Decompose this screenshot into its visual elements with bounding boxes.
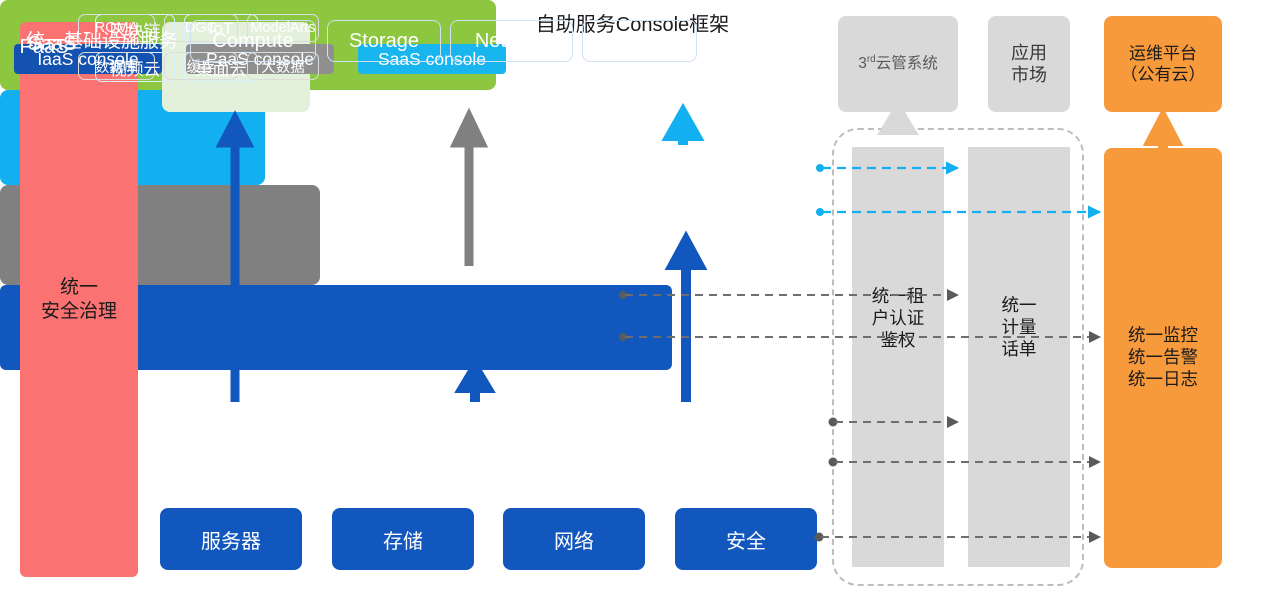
hardware-item-security[interactable]: 安全	[675, 508, 817, 570]
paas-service-database[interactable]: 数据库	[78, 52, 155, 80]
third-party-cloud-management-box: 3rd云管系统	[838, 16, 958, 112]
unified-tenant-auth-label: 统一租 户认证 鉴权	[852, 282, 944, 356]
unified-metering-label: 统一 计量 话单	[968, 282, 1070, 374]
unified-monitor-alarm-log-panel: 统一监控 统一告警 统一日志	[1104, 148, 1222, 568]
architecture-diagram: 统一 安全治理 API网关 自助服务Console框架 IaaS console…	[0, 0, 1265, 605]
ops-platform-label: 运维平台 （公有云）	[1121, 43, 1206, 86]
hardware-item-network[interactable]: 网络	[503, 508, 645, 570]
arrow-saas-to-saas-console	[670, 113, 696, 145]
infra-service-cce[interactable]: CCE	[582, 20, 697, 62]
app-market-box: 应用 市场	[988, 16, 1070, 112]
unified-security-governance-pillar: 统一 安全治理	[20, 22, 138, 577]
infra-service-compute[interactable]: Compute	[190, 20, 316, 62]
hardware-item-storage[interactable]: 存储	[332, 508, 474, 570]
app-market-label: 应用 市场	[1011, 42, 1047, 87]
unified-infrastructure-label: 统一基础设施服务	[14, 26, 190, 53]
ops-platform-public-cloud-box: 运维平台 （公有云）	[1104, 16, 1222, 112]
arrow-ops-panel-to-ops-platform	[1151, 118, 1175, 148]
hardware-item-server[interactable]: 服务器	[160, 508, 302, 570]
arrow-infra-to-paas	[463, 368, 487, 402]
infra-service-storage[interactable]: Storage	[327, 20, 441, 62]
arrow-paas-to-console	[457, 118, 481, 266]
arrow-infra-to-saas	[673, 241, 699, 402]
unified-security-governance-label: 统一 安全治理	[41, 276, 117, 324]
third-party-cloud-management-label: 3rd云管系统	[858, 54, 938, 74]
unified-monitor-alarm-log-label: 统一监控 统一告警 统一日志	[1128, 325, 1198, 391]
infra-service-network[interactable]: Network	[450, 20, 573, 62]
